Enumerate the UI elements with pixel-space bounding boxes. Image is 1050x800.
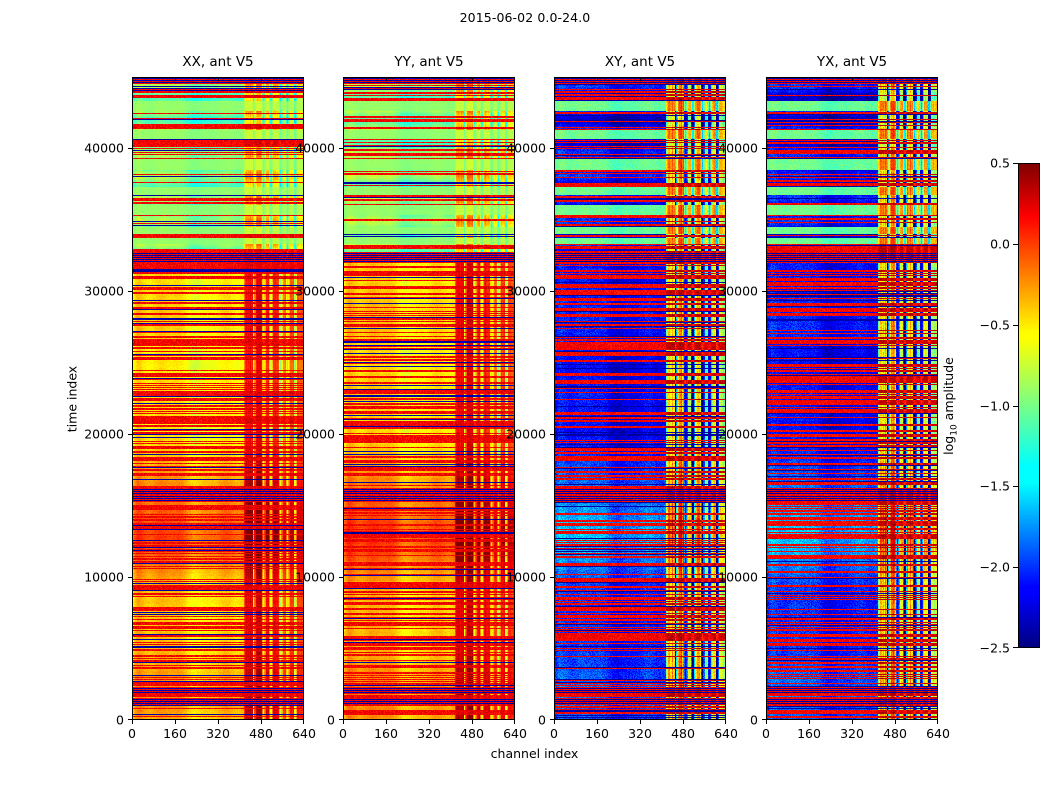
x-tick-top-yx-4 [937,77,938,81]
x-tick-label-yx-1: 160 [797,726,821,741]
x-tick-label-xy-1: 160 [585,726,609,741]
x-tick-yx-4 [937,720,938,724]
x-tick-top-xx-4 [303,77,304,81]
colorbar-tick-label-1: −2.0 [972,560,1010,575]
x-tick-top-xy-3 [683,77,684,81]
colorbar-label: log10 amplitude [941,357,960,455]
colorbar-tick-1 [1013,567,1018,568]
waterfall-image-xx [132,77,304,720]
y-tick-label-yy-0: 0 [327,713,335,728]
y-tick-xy-2 [550,434,554,435]
x-tick-yx-3 [895,720,896,724]
y-tick-yx-2 [762,434,766,435]
y-axis-label: time index [65,365,80,431]
y-tick-yy-1 [339,577,343,578]
y-tick-xx-4 [128,148,132,149]
y-tick-label-xy-2: 20000 [506,427,546,442]
x-tick-label-xx-2: 320 [206,726,230,741]
colorbar-gradient [1018,163,1040,648]
x-tick-top-yy-2 [429,77,430,81]
colorbar-tick-label-2: −1.5 [972,479,1010,494]
x-tick-label-yx-2: 320 [840,726,864,741]
y-tick-label-xy-1: 10000 [506,570,546,585]
x-tick-label-yy-0: 0 [339,726,347,741]
colorbar-tick-5 [1013,244,1018,245]
y-tick-yy-4 [339,148,343,149]
x-axis-label: channel index [491,746,579,761]
x-tick-xy-3 [683,720,684,724]
x-tick-top-yy-3 [472,77,473,81]
x-tick-xy-2 [640,720,641,724]
x-tick-label-yx-3: 480 [883,726,907,741]
x-tick-label-xx-4: 640 [292,726,316,741]
x-tick-top-xx-2 [218,77,219,81]
x-tick-xx-2 [218,720,219,724]
y-tick-xy-0 [550,719,554,720]
y-tick-xy-4 [550,148,554,149]
x-tick-yy-0 [343,720,344,724]
panel-title-xx: XX, ant V5 [132,54,304,70]
y-tick-label-xx-2: 20000 [84,427,124,442]
x-tick-label-yx-4: 640 [926,726,950,741]
panel-title-yx: YX, ant V5 [766,54,938,70]
x-tick-top-yx-2 [852,77,853,81]
y-tick-xy-3 [550,291,554,292]
x-tick-top-yx-0 [766,77,767,81]
y-tick-yy-3 [339,291,343,292]
colorbar-tick-4 [1013,325,1018,326]
x-tick-xy-0 [554,720,555,724]
colorbar-label-rest: amplitude [941,357,956,424]
y-tick-label-xx-3: 30000 [84,284,124,299]
panel-yx[interactable]: YX, ant V5016032048064001000020000300004… [766,77,938,720]
y-tick-label-yy-3: 30000 [295,284,335,299]
x-tick-label-xy-2: 320 [628,726,652,741]
x-tick-top-yy-0 [343,77,344,81]
matplotlib-figure: 2015-06-02 0.0-24.0 XX, ant V50160320480… [0,0,1050,800]
y-tick-label-xy-3: 30000 [506,284,546,299]
y-tick-label-yx-4: 40000 [718,141,758,156]
panel-xy[interactable]: XY, ant V5016032048064001000020000300004… [554,77,726,720]
y-tick-label-yy-4: 40000 [295,141,335,156]
x-tick-label-yy-1: 160 [374,726,398,741]
y-tick-yx-0 [762,719,766,720]
x-tick-yx-2 [852,720,853,724]
x-tick-label-yy-2: 320 [417,726,441,741]
y-tick-yy-2 [339,434,343,435]
colorbar[interactable] [1018,163,1040,648]
x-tick-xx-0 [132,720,133,724]
panel-xx[interactable]: XX, ant V5016032048064001000020000300004… [132,77,304,720]
x-tick-label-yy-3: 480 [460,726,484,741]
x-tick-label-xx-0: 0 [128,726,136,741]
y-tick-label-xy-0: 0 [538,713,546,728]
colorbar-tick-label-4: −0.5 [972,317,1010,332]
y-tick-label-xy-4: 40000 [506,141,546,156]
y-tick-xx-2 [128,434,132,435]
y-tick-label-xx-1: 10000 [84,570,124,585]
x-tick-xy-4 [725,720,726,724]
colorbar-label-base: log [941,435,956,454]
x-tick-top-yx-1 [809,77,810,81]
x-tick-yy-4 [514,720,515,724]
x-tick-top-xy-2 [640,77,641,81]
x-tick-yy-3 [472,720,473,724]
figure-suptitle: 2015-06-02 0.0-24.0 [0,10,1050,25]
colorbar-tick-2 [1013,486,1018,487]
x-tick-yx-0 [766,720,767,724]
colorbar-tick-0 [1013,647,1018,648]
x-tick-yx-1 [809,720,810,724]
x-tick-xy-1 [597,720,598,724]
x-tick-label-yy-4: 640 [503,726,527,741]
x-tick-top-xy-1 [597,77,598,81]
y-tick-xx-3 [128,291,132,292]
waterfall-image-yx [766,77,938,720]
x-tick-label-xy-0: 0 [550,726,558,741]
x-tick-label-xx-1: 160 [163,726,187,741]
x-tick-top-xy-4 [725,77,726,81]
y-tick-yx-3 [762,291,766,292]
colorbar-tick-label-0: −2.5 [972,641,1010,656]
panel-yy[interactable]: YY, ant V5016032048064001000020000300004… [343,77,515,720]
x-tick-top-yx-3 [895,77,896,81]
panel-title-xy: XY, ant V5 [554,54,726,70]
x-tick-top-yy-1 [386,77,387,81]
y-tick-xx-1 [128,577,132,578]
panel-title-yy: YY, ant V5 [343,54,515,70]
waterfall-image-yy [343,77,515,720]
colorbar-label-subscript: 10 [949,424,959,435]
y-tick-label-yx-0: 0 [750,713,758,728]
x-tick-label-xx-3: 480 [249,726,273,741]
colorbar-tick-label-3: −1.0 [972,398,1010,413]
colorbar-tick-label-5: 0.0 [972,236,1010,251]
x-tick-top-xx-0 [132,77,133,81]
x-tick-xx-3 [261,720,262,724]
x-tick-label-xy-3: 480 [671,726,695,741]
y-tick-label-yx-2: 20000 [718,427,758,442]
x-tick-top-xx-3 [261,77,262,81]
colorbar-tick-3 [1013,406,1018,407]
y-tick-xx-0 [128,719,132,720]
y-tick-xy-1 [550,577,554,578]
x-tick-label-yx-0: 0 [762,726,770,741]
x-tick-top-yy-4 [514,77,515,81]
x-tick-xx-4 [303,720,304,724]
y-tick-yy-0 [339,719,343,720]
y-tick-label-yx-1: 10000 [718,570,758,585]
x-tick-top-xx-1 [175,77,176,81]
y-tick-yx-4 [762,148,766,149]
x-tick-yy-2 [429,720,430,724]
x-tick-yy-1 [386,720,387,724]
waterfall-image-xy [554,77,726,720]
colorbar-tick-6 [1013,163,1018,164]
y-tick-label-yx-3: 30000 [718,284,758,299]
y-tick-yx-1 [762,577,766,578]
colorbar-tick-label-6: 0.5 [972,156,1010,171]
y-tick-label-yy-1: 10000 [295,570,335,585]
x-tick-top-xy-0 [554,77,555,81]
y-tick-label-xx-4: 40000 [84,141,124,156]
y-tick-label-yy-2: 20000 [295,427,335,442]
x-tick-label-xy-4: 640 [714,726,738,741]
x-tick-xx-1 [175,720,176,724]
y-tick-label-xx-0: 0 [116,713,124,728]
